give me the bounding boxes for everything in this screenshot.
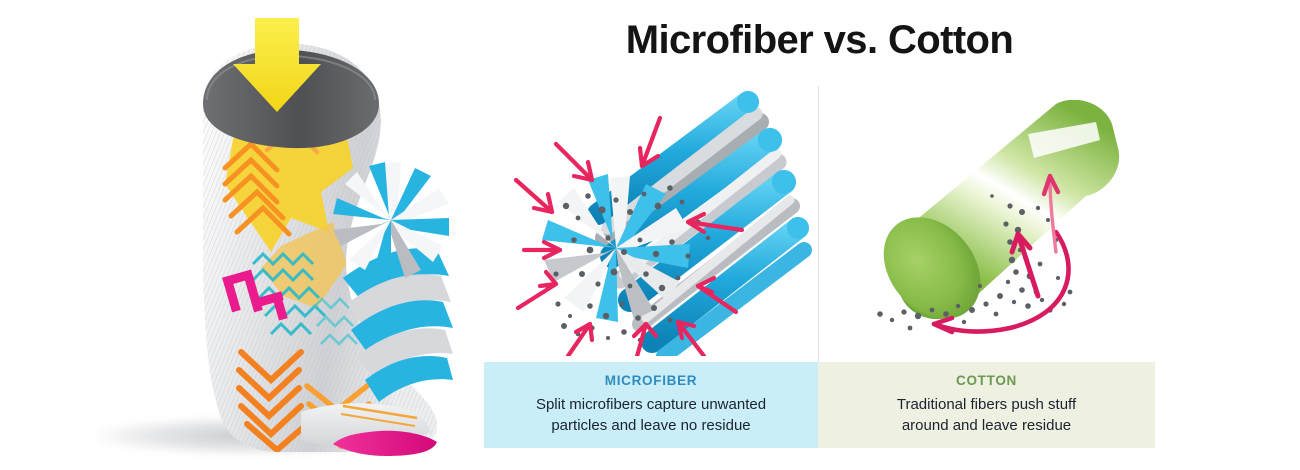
- sock-illustration: [85, 8, 465, 458]
- caption-panel-microfiber: MICROFIBER Split microfibers capture unw…: [484, 362, 818, 448]
- caption-line-1: Split microfibers capture unwanted: [498, 395, 804, 416]
- page-title: Microfiber vs. Cotton: [484, 18, 1155, 62]
- caption-line-1: Traditional fibers push stuff: [832, 395, 1141, 416]
- microfiber-illustration: [512, 88, 812, 356]
- caption-body-microfiber: Split microfibers capture unwanted parti…: [484, 395, 818, 436]
- cotton-fiber-cylinder: [864, 100, 1119, 338]
- panel-divider: [818, 86, 819, 362]
- caption-heading-microfiber: MICROFIBER: [484, 373, 818, 388]
- caption-body-cotton: Traditional fibers push stuff around and…: [818, 395, 1155, 436]
- caption-panel-cotton: COTTON Traditional fibers push stuff aro…: [818, 362, 1155, 448]
- caption-heading-cotton: COTTON: [818, 373, 1155, 388]
- cotton-illustration: [860, 100, 1130, 350]
- caption-line-2: around and leave residue: [832, 416, 1141, 437]
- caption-line-2: particles and leave no residue: [498, 416, 804, 437]
- infographic-canvas: Microfiber vs. Cotton: [0, 0, 1300, 470]
